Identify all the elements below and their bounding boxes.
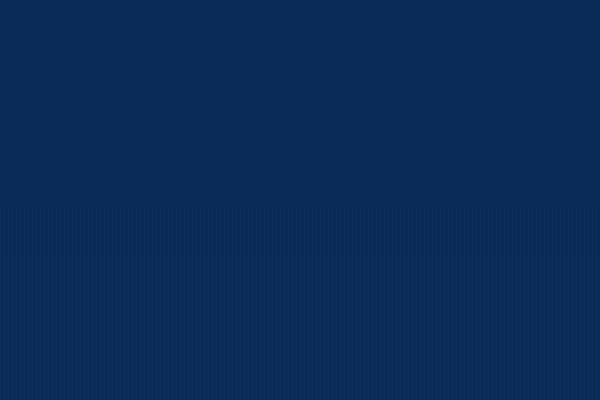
thumbnail-canvas <box>0 0 600 400</box>
overlay-trend-line-above-banner <box>0 0 600 400</box>
